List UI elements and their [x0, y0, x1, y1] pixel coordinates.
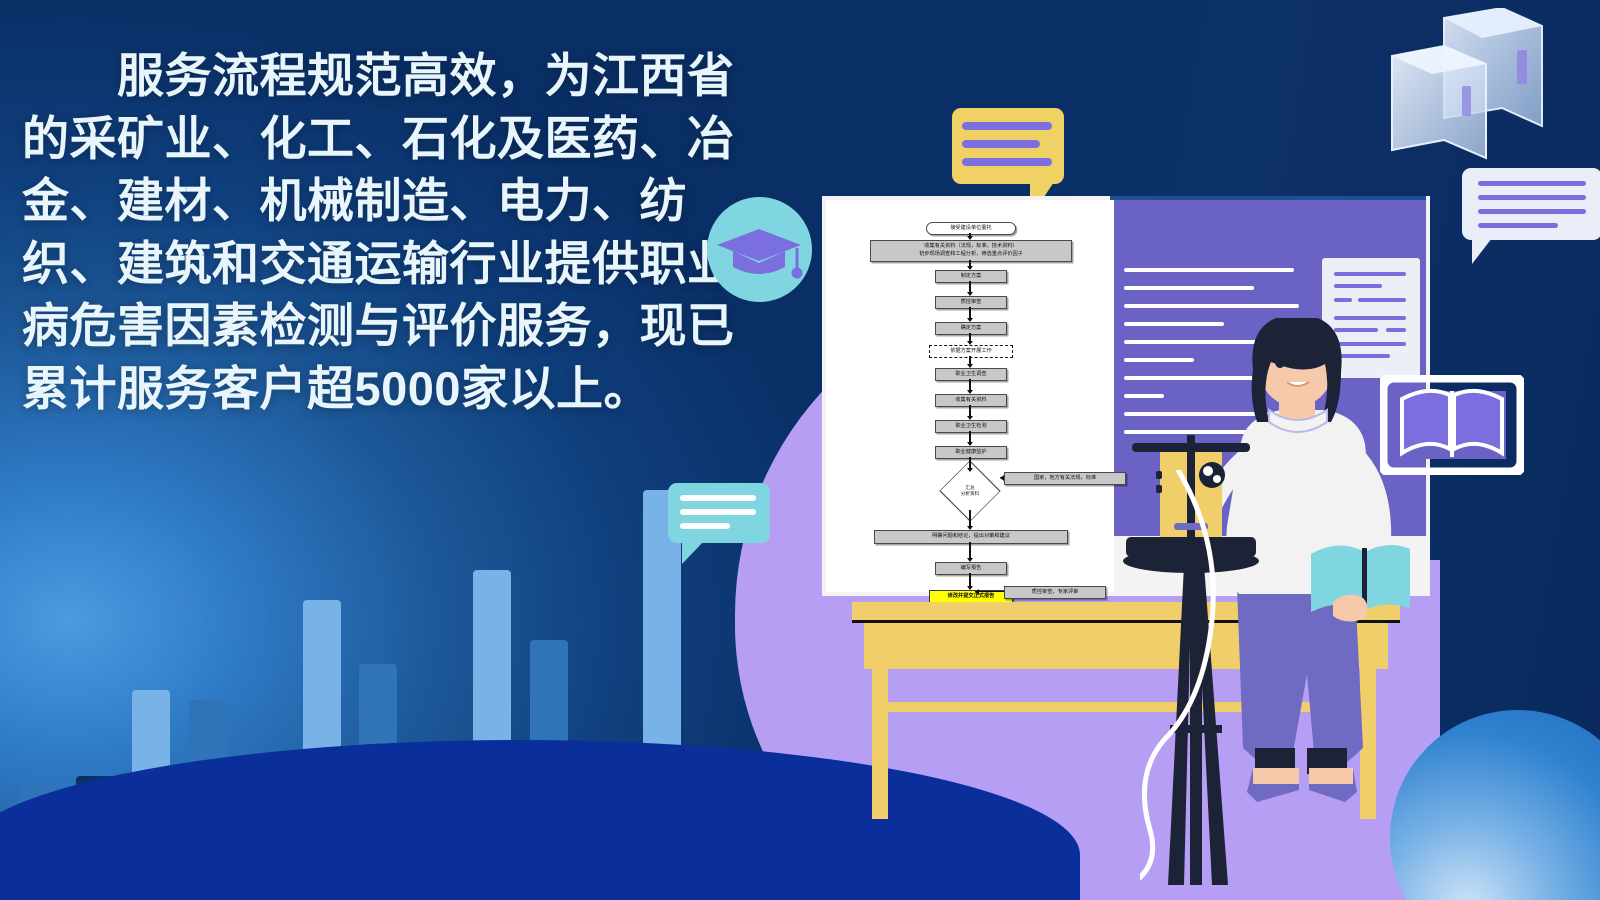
flowchart-arrowhead — [975, 589, 979, 595]
graduation-cap-icon — [707, 197, 812, 302]
flowchart-node: 依据方案开展工作 — [929, 345, 1013, 358]
flowchart-connector — [969, 542, 970, 558]
flowchart-node: 明确问题和结论，提出对策和建议 — [874, 530, 1068, 544]
speech-bubble-icon-teal — [668, 483, 770, 543]
flowchart-arrowhead — [967, 266, 973, 270]
flowchart-arrowhead — [967, 292, 973, 296]
flowchart-node-decision: 汇总 分析资料 — [939, 472, 1001, 510]
flowchart: 接受建设单位委托收集有关资料（法规，标准，技术资料） 初步现场调查和工程分析，筛… — [826, 200, 1114, 592]
flowchart-arrowhead — [967, 390, 973, 394]
flowchart-connector — [969, 431, 970, 442]
flowchart-node: 职业卫生检测 — [935, 420, 1007, 433]
flowchart-connector — [969, 307, 970, 318]
whiteboard-line — [1124, 286, 1254, 290]
flowchart-arrowhead — [967, 318, 973, 322]
flowchart-connector — [969, 510, 970, 526]
flowchart-node: 职业卫生调查 — [935, 368, 1007, 381]
flowchart-arrowhead — [967, 442, 973, 446]
flowchart-node: 收集有关资料（法规，标准，技术资料） 初步现场调查和工程分析，筛选重点评价因子 — [870, 240, 1072, 262]
whiteboard-line — [1124, 304, 1299, 308]
page-title: 服务流程规范高效，为江西省的采矿业、化工、石化及医药、冶金、建材、机械制造、电力… — [22, 45, 767, 420]
flowchart-arrowhead — [967, 468, 973, 472]
books-3d-icon — [1382, 8, 1582, 183]
flowchart-node: 制定方案 — [935, 270, 1007, 283]
whiteboard-line — [1124, 394, 1164, 398]
flowchart-arrowhead — [967, 236, 973, 240]
flowchart-arrowhead — [967, 416, 973, 420]
flowchart-arrowhead — [1000, 475, 1004, 481]
flowchart-node: 编写报告 — [935, 562, 1007, 575]
flowchart-arrowhead — [967, 558, 973, 562]
instrument-cable — [1140, 470, 1260, 890]
flowchart-arrowhead — [967, 364, 973, 368]
flowchart-node: 质控审查 — [935, 296, 1007, 309]
flowchart-connector — [969, 281, 970, 292]
whiteboard-line — [1124, 358, 1194, 362]
flowchart-arrowhead — [967, 586, 973, 590]
speech-bubble-icon-yellow — [952, 108, 1064, 184]
flowchart-arrowhead — [967, 341, 973, 345]
whiteboard-line — [1124, 268, 1294, 272]
flowchart-connector — [969, 405, 970, 416]
flowchart-node: 职业健康监护 — [935, 446, 1007, 459]
flowchart-connector — [969, 379, 970, 390]
flowchart-connector — [975, 591, 1004, 592]
flowchart-connector — [969, 457, 970, 468]
speech-bubble-icon-white — [1462, 168, 1600, 240]
flowchart-arrowhead — [967, 526, 973, 530]
poster-canvas: 服务流程规范高效，为江西省的采矿业、化工、石化及医药、冶金、建材、机械制造、电力… — [0, 0, 1600, 900]
flowchart-node: 确定方案 — [935, 322, 1007, 335]
flowchart-node: 收集有关资料 — [935, 394, 1007, 407]
flowchart-connector — [969, 573, 970, 586]
flowchart-side-node: 质控审查，专家评审 — [1004, 586, 1106, 599]
flowchart-node: 接受建设单位委托 — [926, 222, 1016, 235]
